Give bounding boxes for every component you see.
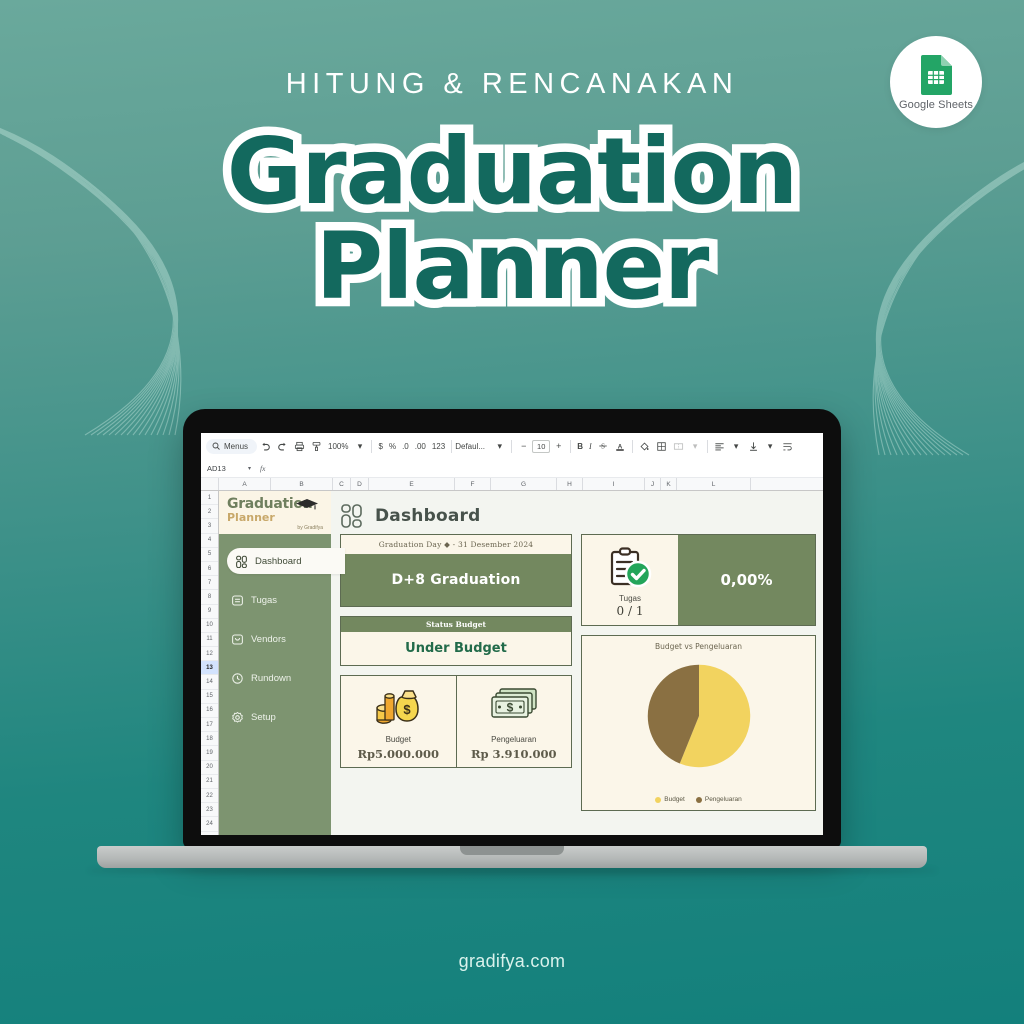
money-cards: $ Budget Rp5.000.000 bbox=[340, 675, 572, 768]
row-header-20[interactable]: 20 bbox=[201, 761, 218, 775]
status-budget-card: Status Budget Under Budget bbox=[340, 616, 572, 666]
valign-chevron-down-icon[interactable]: ▾ bbox=[762, 438, 779, 455]
borders-icon[interactable] bbox=[653, 438, 670, 455]
print-icon[interactable] bbox=[291, 438, 308, 455]
row-header-4[interactable]: 4 bbox=[201, 534, 218, 548]
countdown-caption: Graduation Day ◆ - 31 Desember 2024 bbox=[341, 535, 571, 554]
row-header-2[interactable]: 2 bbox=[201, 505, 218, 519]
decrease-font-size-button[interactable]: − bbox=[515, 438, 532, 455]
budget-chart-card: Budget vs Pengeluaran BudgetPengeluaran bbox=[581, 635, 816, 811]
dashboard-grid-icon bbox=[340, 503, 366, 529]
search-icon bbox=[212, 442, 220, 450]
legend-label: Budget bbox=[664, 796, 685, 803]
column-header-E[interactable]: E bbox=[369, 478, 455, 490]
row-header-15[interactable]: 15 bbox=[201, 690, 218, 704]
graduation-cap-icon bbox=[295, 498, 319, 513]
sheet-canvas: Graduation Planner by Gradifya Dashboard… bbox=[219, 491, 823, 835]
sidebar-item-dashboard[interactable]: Dashboard bbox=[227, 548, 345, 574]
row-header-17[interactable]: 17 bbox=[201, 718, 218, 732]
sidebar-item-vendors[interactable]: Vendors bbox=[219, 626, 331, 652]
countdown-card: Graduation Day ◆ - 31 Desember 2024 D+8 … bbox=[340, 534, 572, 607]
row-header-25[interactable]: 25 bbox=[201, 832, 218, 836]
brand-line-2: Planner bbox=[227, 512, 325, 525]
row-header-13[interactable]: 13 bbox=[201, 661, 218, 675]
redo-icon[interactable] bbox=[274, 438, 291, 455]
fx-icon: fx bbox=[260, 464, 265, 473]
tasks-percent: 0,00% bbox=[678, 535, 815, 625]
row-header-21[interactable]: 21 bbox=[201, 775, 218, 789]
cash-stack-icon: $ bbox=[487, 684, 541, 726]
footer-url: gradifya.com bbox=[0, 951, 1024, 972]
svg-text:$: $ bbox=[404, 702, 412, 717]
row-header-8[interactable]: 8 bbox=[201, 590, 218, 604]
zoom-level[interactable]: 100% bbox=[325, 442, 351, 451]
chart-title: Budget vs Pengeluaran bbox=[586, 642, 811, 651]
laptop-base bbox=[97, 846, 927, 868]
name-box[interactable]: AD13 bbox=[207, 464, 239, 473]
chart-legend: BudgetPengeluaran bbox=[582, 796, 815, 803]
dashboard-app: Graduation Planner by Gradifya Dashboard… bbox=[219, 491, 823, 835]
row-header-5[interactable]: 5 bbox=[201, 548, 218, 562]
column-header-J[interactable]: J bbox=[645, 478, 661, 490]
column-header-A[interactable]: A bbox=[219, 478, 271, 490]
poster-canvas: HITUNG & RENCANAKAN Graduation Planner G… bbox=[0, 0, 1024, 1024]
tasks-label: Tugas bbox=[619, 594, 641, 603]
increase-decimal-button[interactable]: .00 bbox=[412, 442, 429, 451]
brand-block: Graduation Planner by Gradifya bbox=[219, 491, 331, 534]
column-header-row: ABCDEFGHIJKL bbox=[201, 478, 823, 491]
row-header-14[interactable]: 14 bbox=[201, 675, 218, 689]
laptop-lid: Menus 100% ▾ bbox=[183, 409, 841, 849]
column-header-L[interactable]: L bbox=[677, 478, 751, 490]
tasks-summary: Tugas 0 / 1 bbox=[582, 535, 678, 625]
google-sheets-label: Google Sheets bbox=[899, 99, 973, 111]
sheets-toolbar: Menus 100% ▾ bbox=[201, 433, 823, 460]
align-icon[interactable] bbox=[711, 438, 728, 455]
brand-byline: by Gradifya bbox=[297, 525, 323, 531]
sidebar-item-label: Dashboard bbox=[255, 556, 301, 567]
legend-item-pengeluaran: Pengeluaran bbox=[696, 796, 742, 803]
column-header-C[interactable]: C bbox=[333, 478, 351, 490]
row-header-19[interactable]: 19 bbox=[201, 746, 218, 760]
toolbar-separator bbox=[707, 440, 708, 453]
row-header-9[interactable]: 9 bbox=[201, 605, 218, 619]
svg-text:S: S bbox=[601, 444, 605, 451]
budget-value: Rp5.000.000 bbox=[345, 747, 452, 761]
fill-color-icon[interactable] bbox=[636, 438, 653, 455]
bold-button[interactable]: B bbox=[574, 442, 586, 451]
merge-cells-icon bbox=[670, 438, 687, 455]
pengeluaran-label: Pengeluaran bbox=[461, 735, 568, 744]
status-budget-header: Status Budget bbox=[341, 617, 571, 632]
currency-format-button[interactable]: $ bbox=[375, 442, 385, 451]
sidebar-nav: DashboardTugasVendorsRundownSetup bbox=[219, 534, 331, 835]
store-icon bbox=[231, 633, 244, 646]
row-header-16[interactable]: 16 bbox=[201, 704, 218, 718]
pengeluaran-card: $ Pengeluaran Rp 3.910.000 bbox=[456, 676, 572, 767]
row-header-6[interactable]: 6 bbox=[201, 562, 218, 576]
row-header-11[interactable]: 11 bbox=[201, 633, 218, 647]
page-title: Dashboard bbox=[375, 506, 480, 526]
pie-chart bbox=[586, 655, 811, 777]
column-header-I[interactable]: I bbox=[583, 478, 645, 490]
row-header-18[interactable]: 18 bbox=[201, 732, 218, 746]
status-budget-value: Under Budget bbox=[341, 632, 571, 665]
column-header-K[interactable]: K bbox=[661, 478, 677, 490]
sidebar-item-setup[interactable]: Setup bbox=[219, 704, 331, 730]
legend-item-budget: Budget bbox=[655, 796, 685, 803]
formula-bar: AD13 ▾ fx bbox=[201, 460, 823, 478]
clock-icon bbox=[231, 672, 244, 685]
clipboard-check-icon bbox=[607, 547, 653, 591]
zoom-chevron-down-icon[interactable]: ▾ bbox=[351, 438, 368, 455]
increase-font-size-button[interactable]: + bbox=[550, 438, 567, 455]
dashboard-grid-icon bbox=[235, 555, 248, 568]
column-header-D[interactable]: D bbox=[351, 478, 369, 490]
google-sheets-badge: Google Sheets bbox=[890, 36, 982, 128]
sheet-body: 1234567891011121314151617181920212223242… bbox=[201, 491, 823, 835]
sidebar-item-label: Tugas bbox=[251, 595, 277, 606]
laptop-screen: Menus 100% ▾ bbox=[201, 433, 823, 835]
dashboard-sidebar: Graduation Planner by Gradifya Dashboard… bbox=[219, 491, 331, 835]
kicker-text: HITUNG & RENCANAKAN bbox=[0, 68, 1024, 101]
row-header-10[interactable]: 10 bbox=[201, 619, 218, 633]
sidebar-item-label: Setup bbox=[251, 712, 276, 723]
toolbar-separator bbox=[511, 440, 512, 453]
row-header-7[interactable]: 7 bbox=[201, 576, 218, 590]
page-header: Dashboard bbox=[340, 497, 816, 534]
toolbar-separator bbox=[451, 440, 452, 453]
sidebar-item-rundown[interactable]: Rundown bbox=[219, 665, 331, 691]
budget-card: $ Budget Rp5.000.000 bbox=[341, 676, 456, 767]
task-list-icon bbox=[231, 594, 244, 607]
tasks-card: Tugas 0 / 1 0,00% bbox=[581, 534, 816, 626]
sidebar-item-label: Vendors bbox=[251, 634, 286, 645]
countdown-value: D+8 Graduation bbox=[341, 554, 571, 606]
font-chevron-down-icon[interactable]: ▾ bbox=[491, 438, 508, 455]
pie-chart-svg bbox=[638, 655, 760, 777]
column-header-H[interactable]: H bbox=[557, 478, 583, 490]
pengeluaran-value: Rp 3.910.000 bbox=[461, 747, 568, 761]
column-header-G[interactable]: G bbox=[491, 478, 557, 490]
column-header-F[interactable]: F bbox=[455, 478, 491, 490]
row-header-23[interactable]: 23 bbox=[201, 803, 218, 817]
svg-text:$: $ bbox=[506, 701, 513, 715]
strikethrough-button[interactable]: S bbox=[595, 438, 612, 455]
row-header-24[interactable]: 24 bbox=[201, 817, 218, 831]
money-bag-icon: $ bbox=[371, 684, 425, 726]
menus-label: Menus bbox=[224, 442, 248, 451]
row-header-3[interactable]: 3 bbox=[201, 519, 218, 533]
sidebar-item-label: Rundown bbox=[251, 673, 291, 684]
name-box-chevron-down-icon[interactable]: ▾ bbox=[248, 465, 251, 472]
percent-format-button[interactable]: % bbox=[386, 442, 399, 451]
menus-search-button[interactable]: Menus bbox=[206, 439, 257, 454]
dashboard-left-column: Graduation Day ◆ - 31 Desember 2024 D+8 … bbox=[340, 534, 572, 811]
align-chevron-down-icon[interactable]: ▾ bbox=[728, 438, 745, 455]
row-header-12[interactable]: 12 bbox=[201, 647, 218, 661]
dashboard-main: Dashboard Graduation Day ◆ - 31 Desember… bbox=[331, 491, 823, 835]
title-line-1: Graduation bbox=[0, 126, 1024, 217]
vertical-align-icon[interactable] bbox=[745, 438, 762, 455]
row-header-1[interactable]: 1 bbox=[201, 491, 218, 505]
text-color-button[interactable]: A bbox=[612, 438, 629, 455]
toolbar-separator bbox=[570, 440, 571, 453]
row-header-22[interactable]: 22 bbox=[201, 789, 218, 803]
dashboard-right-column: Tugas 0 / 1 0,00% Budget vs Pengeluaran bbox=[581, 534, 816, 811]
legend-swatch bbox=[655, 797, 661, 803]
font-size-input[interactable]: 10 bbox=[532, 440, 550, 453]
budget-label: Budget bbox=[345, 735, 452, 744]
toolbar-separator bbox=[371, 440, 372, 453]
tasks-fraction: 0 / 1 bbox=[617, 604, 644, 618]
legend-swatch bbox=[696, 797, 702, 803]
poster-title: Graduation Planner bbox=[0, 126, 1024, 312]
column-headers: ABCDEFGHIJKL bbox=[219, 478, 751, 490]
italic-button[interactable]: I bbox=[586, 442, 595, 451]
column-header-B[interactable]: B bbox=[271, 478, 333, 490]
google-sheets-icon bbox=[919, 54, 953, 96]
text-wrap-icon[interactable] bbox=[779, 438, 796, 455]
gear-icon bbox=[231, 711, 244, 724]
more-formats-button[interactable]: 123 bbox=[429, 442, 448, 451]
font-family-select[interactable]: Defaul... bbox=[455, 442, 491, 451]
title-line-2: Planner bbox=[0, 221, 1024, 312]
row-header-gutter: 1234567891011121314151617181920212223242… bbox=[201, 491, 219, 835]
paint-format-icon[interactable] bbox=[308, 438, 325, 455]
legend-label: Pengeluaran bbox=[705, 796, 742, 803]
sidebar-item-tugas[interactable]: Tugas bbox=[219, 587, 331, 613]
merge-chevron-down-icon: ▾ bbox=[687, 438, 704, 455]
select-all-corner[interactable] bbox=[201, 478, 219, 490]
decrease-decimal-button[interactable]: .0 bbox=[399, 442, 412, 451]
undo-icon[interactable] bbox=[257, 438, 274, 455]
toolbar-separator bbox=[632, 440, 633, 453]
laptop-mockup: Menus 100% ▾ bbox=[183, 409, 841, 849]
dashboard-columns: Graduation Day ◆ - 31 Desember 2024 D+8 … bbox=[340, 534, 816, 811]
